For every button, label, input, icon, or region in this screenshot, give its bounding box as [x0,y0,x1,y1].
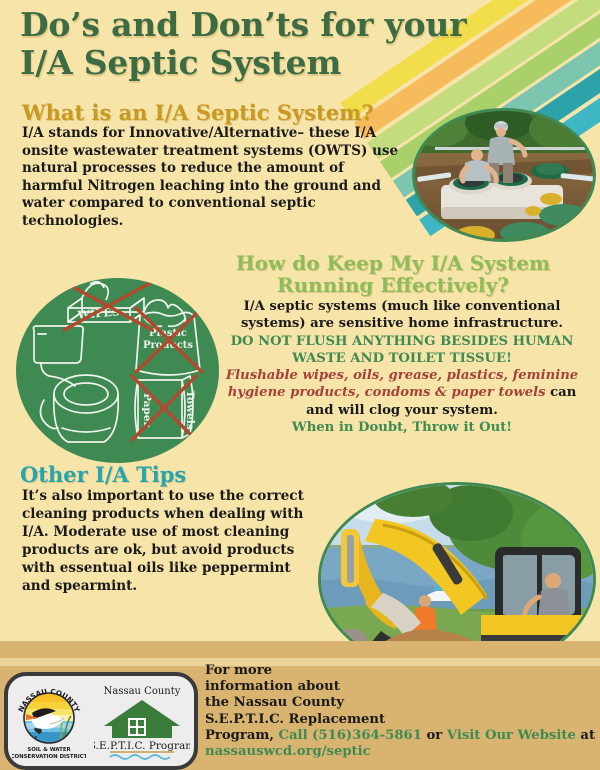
footer-or-text: or [422,728,447,743]
how-closing-text: When in Doubt, Throw it Out! [216,419,588,436]
paragraph-how-to-keep-running: I/A septic systems (much like convention… [216,298,588,436]
footer-url[interactable]: nassauswcd.org/septic [205,744,597,760]
how-items-list: Flushable wipes, oils, grease, plastics,… [226,368,578,400]
septic-logo-bottom: S.E.P.T.I.C. Program [94,740,190,752]
footer-program-prefix: Program, [205,728,279,743]
photo-septic-install [412,108,596,242]
heading-how-to-keep-running: How do Keep My I/A System Running Effect… [198,252,588,297]
footer-line-1: For more [205,663,597,679]
page-title: Do’s and Don’ts for your I/A Septic Syst… [20,6,470,81]
footer-at-text: at [576,728,595,743]
logo-septic-program: Nassau County S.E.P.T.I.C. Program [94,682,190,760]
heading-other-tips: Other I/A Tips [20,462,186,487]
footer-contact-text: For more information about the Nassau Co… [205,663,597,760]
footer-line-2: information about [205,679,597,695]
footer-line-5: Program, Call (516)364-5861 or Visit Our… [205,728,597,744]
swcd-sub-line1: SOIL & WATER [27,747,71,753]
how-intro-text: I/A septic systems (much like convention… [241,299,563,331]
footer-line-4: S.E.P.T.I.C. Replacement [205,712,597,728]
logo-plate: NASSAU COUNTY SOIL & WATER CONSERVATION … [4,672,198,770]
how-warning-text: DO NOT FLUSH ANYTHING BESIDES HUMAN WAST… [216,333,588,368]
footer-phone-link[interactable]: Call (516)364-5861 [279,728,422,743]
paragraph-what-is-ia: I/A stands for Innovative/Alternative– t… [22,125,407,230]
no-flush-circle-illustration: WIPES Plastic Products Paper Towels [16,278,219,463]
heading-what-is-ia: What is an I/A Septic System? [22,100,374,125]
footer-line-3: the Nassau County [205,695,597,711]
septic-logo-top: Nassau County [104,686,181,697]
poster-root: Do’s and Don’ts for your I/A Septic Syst… [0,0,600,770]
footer-band-upper [0,641,600,658]
logo-nassau-swcd: NASSAU COUNTY SOIL & WATER CONSERVATION … [12,680,86,762]
label-towels: Towels [184,390,196,429]
swcd-sub-line2: CONSERVATION DISTRICT [12,754,86,760]
paragraph-other-tips: It’s also important to use the correct c… [22,487,322,595]
footer-website-link[interactable]: Visit Our Website [447,728,576,743]
